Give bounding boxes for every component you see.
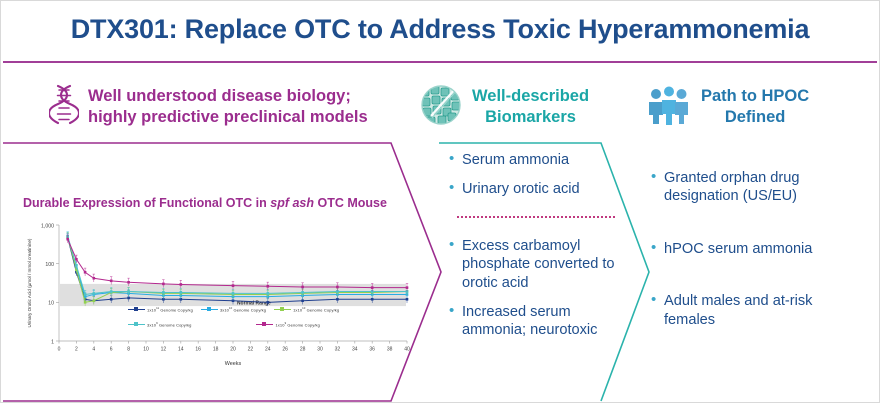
legend-item-1: 3x1010 Genome Copy/kg <box>201 306 266 312</box>
biomarkers-bullets-top: Serum ammonia Urinary orotic acid <box>449 151 629 199</box>
slide-root: DTX301: Replace OTC to Address Toxic Hyp… <box>0 0 880 403</box>
list-item: Serum ammonia <box>449 151 629 169</box>
header-hpoc: Path to HPOC Defined <box>646 73 876 141</box>
header-biomarkers-label: Well-described Biomarkers <box>472 86 589 127</box>
header-biology-line2: highly predictive preclinical models <box>88 108 368 126</box>
list-item: Excess carbamoyl phosphate converted to … <box>449 237 629 292</box>
svg-text:Weeks: Weeks <box>225 361 242 367</box>
legend-marker-0 <box>128 307 145 312</box>
legend-label-2: 1x1010 Genome Copy/kg <box>293 306 339 312</box>
svg-text:32: 32 <box>335 347 341 353</box>
page-title: DTX301: Replace OTC to Address Toxic Hyp… <box>71 14 810 45</box>
svg-text:40: 40 <box>404 347 410 353</box>
header-biomarkers-line2: Biomarkers <box>485 108 576 126</box>
legend-marker-1 <box>201 307 218 312</box>
svg-text:6: 6 <box>110 347 113 353</box>
svg-text:26: 26 <box>282 347 288 353</box>
petri-dish-icon <box>419 83 463 132</box>
list-item: hPOC serum ammonia <box>651 240 866 258</box>
legend-row-1: 1x1011 Genome Copy/kg 3x1010 Genome Copy… <box>128 306 418 312</box>
hpoc-bullets: Granted orphan drug designation (US/EU) … <box>651 169 866 329</box>
three-people-icon <box>646 85 692 130</box>
title-bar: DTX301: Replace OTC to Address Toxic Hyp… <box>1 1 879 58</box>
chart-title-italic: spf ash <box>270 196 314 210</box>
legend-item-3: 3x109 Genome Copy/kg <box>128 321 191 327</box>
svg-text:0: 0 <box>58 347 61 353</box>
legend-row-2: 3x109 Genome Copy/kg 1x109 Genome Copy/k… <box>128 321 418 327</box>
list-item: Increased serum ammonia; neurotoxic <box>449 303 629 340</box>
otc-expression-chart: 1101001,00002468101214161820222426283032… <box>23 219 415 369</box>
svg-text:4: 4 <box>92 347 95 353</box>
svg-text:1: 1 <box>51 339 54 345</box>
header-biology: Well understood disease biology; highly … <box>49 73 399 141</box>
header-hpoc-line1: Path to HPOC <box>701 87 809 105</box>
svg-text:1,000: 1,000 <box>41 223 54 229</box>
series-line-4 <box>68 239 407 287</box>
svg-text:10: 10 <box>143 347 149 353</box>
legend-item-2: 1x1010 Genome Copy/kg <box>274 306 339 312</box>
header-biomarkers: Well-described Biomarkers <box>419 73 634 141</box>
svg-text:10: 10 <box>48 301 54 307</box>
svg-text:34: 34 <box>352 347 358 353</box>
header-row: Well understood disease biology; highly … <box>1 73 879 141</box>
header-hpoc-label: Path to HPOC Defined <box>701 86 809 127</box>
legend-marker-4 <box>256 322 273 327</box>
dotted-divider <box>457 216 615 218</box>
title-underline-rule <box>3 61 877 63</box>
panels-container: Durable Expression of Functional OTC in … <box>1 141 879 403</box>
panel-biomarkers: Serum ammonia Urinary orotic acid Excess… <box>449 151 629 351</box>
svg-text:12: 12 <box>161 347 167 353</box>
chart-title-suffix: OTC Mouse <box>314 196 387 210</box>
chart-title-prefix: Durable Expression of Functional OTC in <box>23 196 270 210</box>
header-biology-line1: Well understood disease biology; <box>88 87 351 105</box>
legend-item-0: 1x1011 Genome Copy/kg <box>128 306 193 312</box>
header-biology-label: Well understood disease biology; highly … <box>88 86 368 127</box>
list-item: Urinary orotic acid <box>449 180 629 198</box>
svg-text:100: 100 <box>45 262 54 268</box>
legend-label-4: 1x109 Genome Copy/kg <box>275 321 319 327</box>
svg-text:8: 8 <box>127 347 130 353</box>
svg-text:38: 38 <box>387 347 393 353</box>
svg-text:20: 20 <box>230 347 236 353</box>
legend-item-4: 1x109 Genome Copy/kg <box>256 321 319 327</box>
header-biomarkers-line1: Well-described <box>472 87 589 105</box>
legend-marker-3 <box>128 322 145 327</box>
legend-label-1: 3x1010 Genome Copy/kg <box>220 306 266 312</box>
panel-hpoc: Granted orphan drug designation (US/EU) … <box>651 169 866 363</box>
legend-label-0: 1x1011 Genome Copy/kg <box>147 306 193 312</box>
chart-title: Durable Expression of Functional OTC in … <box>23 196 387 210</box>
svg-text:24: 24 <box>265 347 271 353</box>
header-hpoc-line2: Defined <box>725 108 786 126</box>
svg-text:2: 2 <box>75 347 78 353</box>
biomarkers-bullets-bottom: Excess carbamoyl phosphate converted to … <box>449 237 629 340</box>
list-item: Granted orphan drug designation (US/EU) <box>651 169 866 206</box>
svg-text:36: 36 <box>369 347 375 353</box>
panel-biology: Durable Expression of Functional OTC in … <box>15 141 415 371</box>
svg-text:22: 22 <box>248 347 254 353</box>
list-item: Adult males and at-risk females <box>651 292 866 329</box>
svg-text:28: 28 <box>300 347 306 353</box>
svg-text:16: 16 <box>195 347 201 353</box>
chart-legend: 1x1011 Genome Copy/kg 3x1010 Genome Copy… <box>128 306 418 328</box>
svg-text:30: 30 <box>317 347 323 353</box>
legend-label-3: 3x109 Genome Copy/kg <box>147 321 191 327</box>
svg-text:14: 14 <box>178 347 184 353</box>
svg-text:Urinary Orotic Acid (µmol / mm: Urinary Orotic Acid (µmol / mmol creatin… <box>27 238 32 327</box>
dna-helix-icon <box>49 82 79 133</box>
svg-text:18: 18 <box>213 347 219 353</box>
legend-marker-2 <box>274 307 291 312</box>
